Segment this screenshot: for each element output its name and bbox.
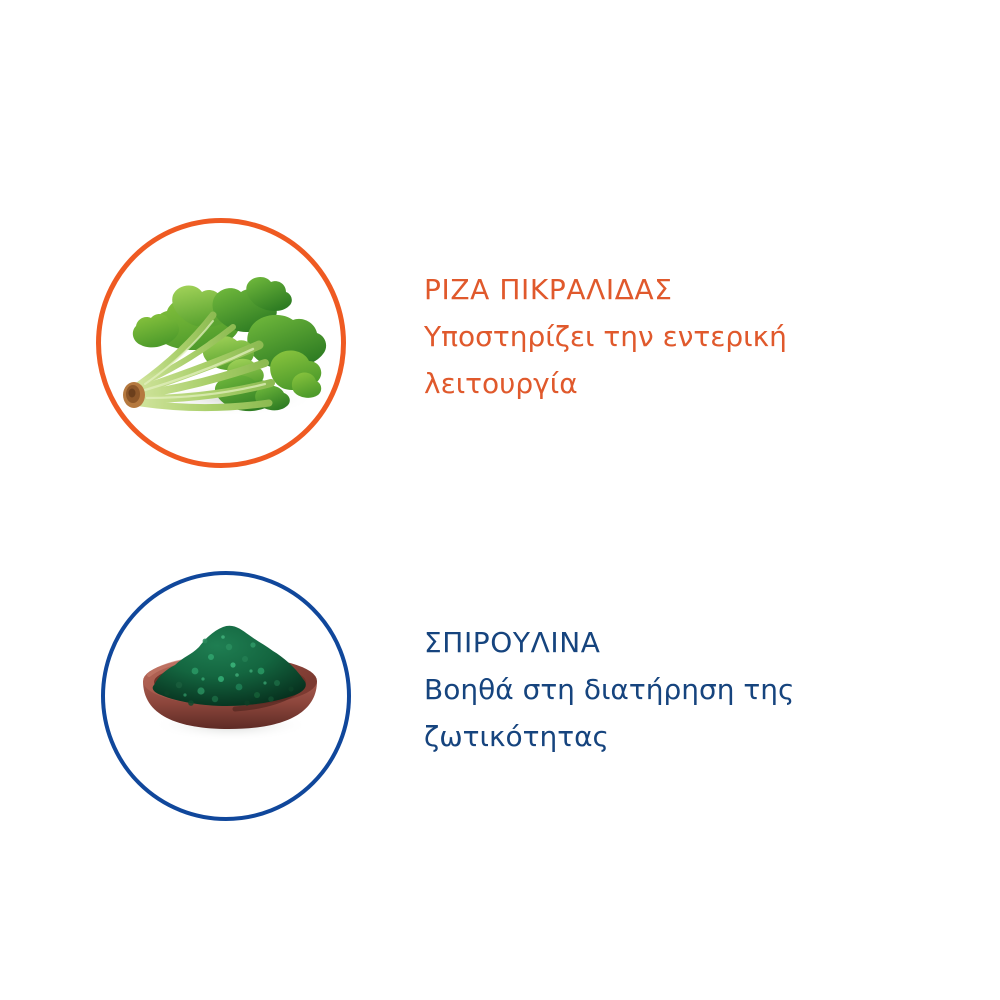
spirulina-powder-photo <box>105 575 347 817</box>
ingredient-description: Υποστηρίζει την εντερική λειτουργία <box>424 313 824 407</box>
ingredient-medallion-spirulina <box>101 571 351 821</box>
ingredient-row-spirulina: ΣΠΙΡΟΥΛΙΝΑ Βοηθά στη διατήρηση της ζωτικ… <box>101 571 824 821</box>
ingredient-row-dandelion-root: ΡΙΖΑ ΠΙΚΡΑΛΙΔΑΣ Υποστηρίζει την εντερική… <box>96 218 824 468</box>
ingredient-medallion-dandelion-root <box>96 218 346 468</box>
ingredient-title: ΡΙΖΑ ΠΙΚΡΑΛΙΔΑΣ <box>424 266 824 313</box>
ingredient-title: ΣΠΙΡΟΥΛΙΝΑ <box>424 619 824 666</box>
ingredient-text-dandelion-root: ΡΙΖΑ ΠΙΚΡΑΛΙΔΑΣ Υποστηρίζει την εντερική… <box>424 218 824 407</box>
ingredient-benefits-page: ΡΙΖΑ ΠΙΚΡΑΛΙΔΑΣ Υποστηρίζει την εντερική… <box>0 0 1000 1000</box>
ingredient-description: Βοηθά στη διατήρηση της ζωτικότητας <box>424 666 824 760</box>
ingredient-text-spirulina: ΣΠΙΡΟΥΛΙΝΑ Βοηθά στη διατήρηση της ζωτικ… <box>424 571 824 760</box>
dandelion-greens-photo <box>101 223 341 463</box>
